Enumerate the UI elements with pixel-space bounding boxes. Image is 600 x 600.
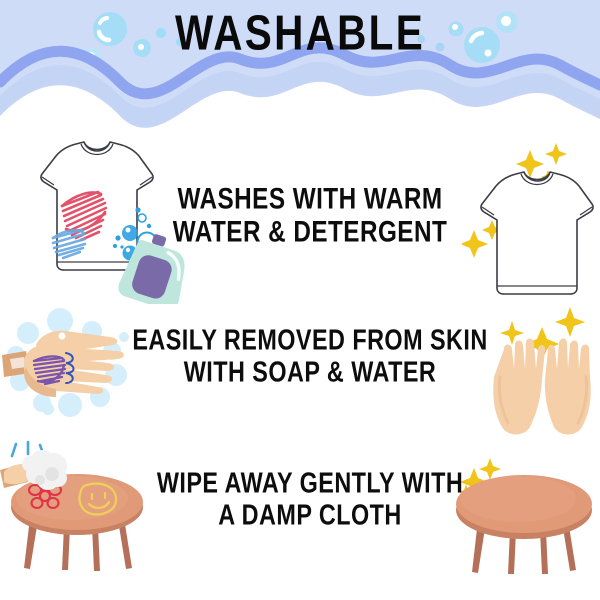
feature-text-washes: WASHES WITH WARM WATER & DETERGENT (166, 182, 454, 249)
feature-text-wipe: WIPE AWAY GENTLY WITH A DAMP CLOTH (148, 467, 472, 531)
feature-text-skin: EASILY REMOVED FROM SKIN WITH SOAP & WAT… (130, 324, 490, 388)
tshirt-clean-illustration (462, 138, 600, 298)
header-banner: WASHABLE (0, 0, 600, 130)
right-hand (545, 339, 591, 435)
hands-washing-illustration (0, 305, 140, 425)
tshirt-stained-illustration (6, 134, 191, 304)
left-hand (493, 339, 545, 435)
page-title: WASHABLE (24, 8, 576, 60)
hands-clean-illustration (482, 301, 600, 437)
feature-row-washes: WASHES WITH WARM WATER & DETERGENT (0, 130, 600, 305)
infographic-canvas: WASHABLE (0, 0, 600, 600)
feature-row-skin: EASILY REMOVED FROM SKIN WITH SOAP & WAT… (0, 305, 600, 440)
feature-row-wipe: WIPE AWAY GENTLY WITH A DAMP CLOTH (0, 440, 600, 600)
